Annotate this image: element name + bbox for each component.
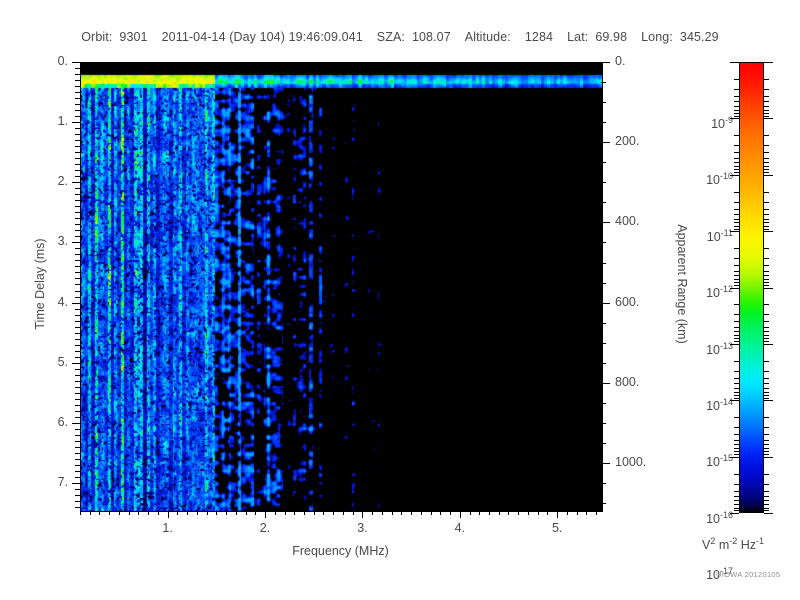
colorbar-tick-minor (734, 338, 739, 339)
colorbar-tick-major (764, 175, 773, 176)
y-tick-major-right (601, 62, 610, 63)
colorbar-tick-minor (764, 378, 769, 379)
y-tick-major-right (601, 383, 610, 384)
y-tick-label-right: 0. (615, 54, 625, 68)
colorbar-tick-minor (734, 417, 739, 418)
x-tick-minor (470, 510, 471, 515)
y-tick-minor-right (601, 162, 606, 163)
colorbar-tick-major (764, 288, 773, 289)
colorbar-tick-minor (734, 454, 739, 455)
colorbar-tick-minor (764, 275, 769, 276)
x-tick-minor (216, 510, 217, 515)
x-tick-label: 1. (158, 521, 178, 535)
y-axis-left-title: Time Delay (ms) (33, 229, 47, 339)
y-tick-minor-left (75, 315, 80, 316)
y-tick-minor-right (601, 122, 606, 123)
y-tick-label-left: 7. (32, 475, 68, 489)
y-tick-label-left: 2. (32, 174, 68, 188)
y-tick-major-right (601, 463, 610, 464)
y-tick-minor-left (75, 375, 80, 376)
x-tick-minor (285, 510, 286, 515)
y-tick-minor-left (75, 465, 80, 466)
altitude-value: 1284 (525, 30, 553, 44)
y-tick-minor-right (601, 242, 606, 243)
y-tick-major-left (72, 62, 80, 63)
colorbar-tick-minor (764, 222, 769, 223)
colorbar-tick-major (730, 288, 739, 289)
colorbar-tick-label: 10-12 (688, 284, 733, 300)
y-tick-minor-right (601, 323, 606, 324)
colorbar-tick-minor (764, 285, 769, 286)
y-tick-minor-left (75, 188, 80, 189)
sza-label: SZA: (377, 30, 405, 44)
colorbar-tick-label: 10-15 (688, 453, 733, 469)
x-tick-minor (372, 510, 373, 515)
y-tick-minor-left (75, 507, 80, 508)
x-tick-minor (518, 510, 519, 515)
colorbar-tick-minor (764, 444, 769, 445)
colorbar-tick-minor (734, 135, 739, 136)
colorbar-tick-minor (764, 451, 769, 452)
colorbar-tick-minor (734, 219, 739, 220)
colorbar-tick-minor (764, 219, 769, 220)
colorbar-tick-major (730, 231, 739, 232)
colorbar-tick-minor (764, 327, 769, 328)
colorbar-tick-minor (734, 172, 739, 173)
y-tick-minor-left (75, 74, 80, 75)
x-tick-minor (119, 510, 120, 515)
colorbar-tick-minor (734, 275, 739, 276)
x-tick-minor (90, 510, 91, 515)
colorbar-tick-minor (734, 248, 739, 249)
y-tick-minor-right (601, 363, 606, 364)
x-tick-minor (577, 510, 578, 515)
y-tick-minor-left (75, 278, 80, 279)
figure-header: Orbit:93012011-04-14 (Day 104) 19:46:09.… (0, 30, 800, 44)
observation-datetime: 2011-04-14 (Day 104) 19:46:09.041 (162, 30, 363, 44)
colorbar-tick-minor (764, 79, 769, 80)
colorbar-tick-minor (764, 113, 769, 114)
colorbar-tick-minor (734, 510, 739, 511)
y-tick-minor-right (601, 102, 606, 103)
y-tick-minor-left (75, 321, 80, 322)
y-tick-minor-left (75, 339, 80, 340)
colorbar-tick-minor (734, 314, 739, 315)
colorbar-tick-minor (764, 116, 769, 117)
y-tick-major-left (72, 363, 80, 364)
x-tick-label: 3. (352, 521, 372, 535)
colorbar-tick-minor (764, 169, 769, 170)
y-tick-minor-left (75, 170, 80, 171)
y-tick-minor-left (75, 110, 80, 111)
colorbar-tick-minor (764, 392, 769, 393)
y-tick-label-right: 400. (615, 214, 639, 228)
y-tick-label-right: 1000. (615, 455, 646, 469)
x-tick-minor (80, 510, 81, 515)
colorbar-tick-minor (734, 448, 739, 449)
colorbar-tick-labels: 10-910-1010-1110-1210-1310-1410-1510-161… (688, 62, 733, 513)
colorbar-tick-minor (734, 158, 739, 159)
y-tick-minor-left (75, 351, 80, 352)
colorbar-tick-major (730, 62, 739, 63)
colorbar-tick-minor (734, 378, 739, 379)
spectrogram-plot-area (80, 62, 603, 512)
colorbar-tick-minor (764, 496, 769, 497)
colorbar-tick-minor (734, 496, 739, 497)
y-tick-minor-left (75, 345, 80, 346)
colorbar-tick-minor (764, 202, 769, 203)
colorbar-tick-minor (764, 335, 769, 336)
y-tick-minor-left (75, 272, 80, 273)
x-tick-minor (382, 510, 383, 515)
y-tick-minor-left (75, 266, 80, 267)
y-tick-minor-left (75, 369, 80, 370)
y-tick-minor-left (75, 284, 80, 285)
colorbar-tick-minor (734, 192, 739, 193)
colorbar-tick-minor (734, 222, 739, 223)
colorbar-tick-minor (734, 96, 739, 97)
x-tick-label: 4. (450, 521, 470, 535)
colorbar-tick-minor (764, 101, 769, 102)
colorbar-tick-major (730, 513, 739, 514)
colorbar-tick-minor (764, 135, 769, 136)
y-tick-minor-left (75, 176, 80, 177)
y-tick-minor-left (75, 254, 80, 255)
colorbar-tick-minor (734, 116, 739, 117)
x-tick-major (460, 510, 461, 518)
colorbar-tick-minor (734, 304, 739, 305)
y-tick-major-left (72, 182, 80, 183)
colorbar-tick-minor (734, 440, 739, 441)
colorbar-gradient (739, 62, 764, 513)
x-tick-major (265, 510, 266, 518)
y-tick-minor-right (601, 283, 606, 284)
y-tick-minor-left (75, 134, 80, 135)
x-tick-minor (401, 510, 402, 515)
x-tick-minor (479, 510, 480, 515)
colorbar-tick-minor (734, 335, 739, 336)
y-tick-major-right (601, 222, 610, 223)
y-tick-minor-left (75, 230, 80, 231)
y-axis-right-title: Apparent Range (km) (675, 214, 689, 354)
colorbar-tick-minor (764, 248, 769, 249)
y-tick-major-right (601, 142, 610, 143)
colorbar-tick-major (764, 400, 773, 401)
colorbar-tick-minor (764, 361, 769, 362)
colorbar-tick-minor (734, 89, 739, 90)
y-tick-minor-left (75, 429, 80, 430)
y-tick-minor-left (75, 441, 80, 442)
colorbar-tick-minor (734, 341, 739, 342)
y-tick-label-left: 1. (32, 114, 68, 128)
colorbar-tick-minor (734, 361, 739, 362)
colorbar-tick-minor (734, 162, 739, 163)
colorbar-tick-minor (734, 285, 739, 286)
x-tick-minor (586, 510, 587, 515)
colorbar-tick-minor (734, 371, 739, 372)
y-tick-minor-left (75, 260, 80, 261)
x-tick-minor (499, 510, 500, 515)
colorbar-tick-minor (764, 500, 769, 501)
y-tick-minor-left (75, 248, 80, 249)
y-tick-major-left (72, 303, 80, 304)
y-tick-minor-left (75, 68, 80, 69)
x-tick-minor (294, 510, 295, 515)
x-tick-minor (246, 510, 247, 515)
x-tick-major (168, 510, 169, 518)
colorbar-tick-major (730, 175, 739, 176)
colorbar-tick-minor (734, 398, 739, 399)
colorbar-tick-minor (764, 304, 769, 305)
colorbar-tick-minor (734, 279, 739, 280)
x-tick-label: 5. (547, 521, 567, 535)
colorbar-tick-minor (734, 229, 739, 230)
y-tick-minor-left (75, 140, 80, 141)
sza-value: 108.07 (412, 30, 451, 44)
orbit-label: Orbit: (81, 30, 112, 44)
y-tick-minor-left (75, 477, 80, 478)
x-tick-minor (431, 510, 432, 515)
colorbar-tick-minor (734, 271, 739, 272)
y-tick-minor-left (75, 200, 80, 201)
x-tick-minor (567, 510, 568, 515)
y-tick-minor-left (75, 164, 80, 165)
y-tick-minor-left (75, 86, 80, 87)
colorbar-tick-minor (734, 79, 739, 80)
x-tick-minor (596, 510, 597, 515)
colorbar-tick-major (730, 344, 739, 345)
y-tick-minor-left (75, 128, 80, 129)
x-tick-minor (275, 510, 276, 515)
colorbar-tick-minor (764, 491, 769, 492)
colorbar-tick-minor (764, 440, 769, 441)
x-tick-minor (255, 510, 256, 515)
colorbar-units-label: V2 m-2 Hz-1 (702, 536, 764, 552)
y-tick-minor-right (601, 503, 606, 504)
colorbar-tick-minor (764, 96, 769, 97)
colorbar-tick-minor (734, 444, 739, 445)
colorbar-tick-minor (734, 209, 739, 210)
colorbar-tick-minor (764, 448, 769, 449)
colorbar-tick-minor (764, 417, 769, 418)
y-tick-minor-right (601, 483, 606, 484)
colorbar-tick-minor (734, 101, 739, 102)
x-tick-minor (197, 510, 198, 515)
x-tick-major (557, 510, 558, 518)
x-tick-minor (129, 510, 130, 515)
colorbar-tick-minor (734, 327, 739, 328)
colorbar-tick-minor (764, 279, 769, 280)
colorbar-tick-minor (764, 214, 769, 215)
colorbar-tick-minor (764, 229, 769, 230)
colorbar-tick-minor (764, 172, 769, 173)
colorbar-tick-minor (764, 321, 769, 322)
credit-text: UIOWA 20120105 (716, 570, 780, 579)
colorbar-tick-minor (764, 508, 769, 509)
colorbar-tick-minor (734, 282, 739, 283)
colorbar-tick-major (730, 400, 739, 401)
colorbar-tick-minor (764, 371, 769, 372)
y-tick-minor-left (75, 146, 80, 147)
x-tick-minor (333, 510, 334, 515)
y-tick-minor-left (75, 206, 80, 207)
colorbar-tick-minor (764, 106, 769, 107)
long-value: 345.29 (680, 30, 719, 44)
y-tick-minor-left (75, 152, 80, 153)
y-tick-label-right: 800. (615, 375, 639, 389)
y-tick-minor-left (75, 194, 80, 195)
colorbar-tick-minor (734, 169, 739, 170)
x-tick-minor (411, 510, 412, 515)
colorbar-tick-minor (734, 166, 739, 167)
y-tick-minor-left (75, 236, 80, 237)
y-tick-minor-right (601, 263, 606, 264)
y-tick-minor-left (75, 357, 80, 358)
x-tick-minor (547, 510, 548, 515)
y-tick-minor-left (75, 291, 80, 292)
colorbar-tick-minor (734, 214, 739, 215)
colorbar-tick-minor (764, 395, 769, 396)
x-tick-minor (353, 510, 354, 515)
colorbar-tick-minor (734, 395, 739, 396)
y-tick-minor-left (75, 387, 80, 388)
colorbar-tick-minor (764, 166, 769, 167)
y-tick-minor-left (75, 459, 80, 460)
x-tick-minor (109, 510, 110, 515)
y-tick-major-left (72, 483, 80, 484)
y-tick-minor-left (75, 327, 80, 328)
colorbar-tick-minor (734, 392, 739, 393)
x-tick-minor (304, 510, 305, 515)
y-tick-minor-left (75, 297, 80, 298)
colorbar-tick-minor (764, 398, 769, 399)
colorbar-tick-minor (734, 106, 739, 107)
y-tick-minor-left (75, 453, 80, 454)
x-tick-minor (99, 510, 100, 515)
colorbar-tick-minor (764, 162, 769, 163)
ionogram-figure: Orbit:93012011-04-14 (Day 104) 19:46:09.… (0, 0, 800, 600)
x-tick-minor (392, 510, 393, 515)
y-tick-label-right: 200. (615, 134, 639, 148)
x-tick-minor (138, 510, 139, 515)
y-tick-minor-left (75, 104, 80, 105)
colorbar-tick-minor (734, 226, 739, 227)
x-tick-minor (450, 510, 451, 515)
colorbar-tick-minor (734, 484, 739, 485)
y-tick-minor-left (75, 411, 80, 412)
colorbar-tick-minor (764, 271, 769, 272)
y-tick-major-left (72, 242, 80, 243)
y-tick-label-right: 600. (615, 295, 639, 309)
y-tick-minor-left (75, 489, 80, 490)
colorbar-tick-minor (734, 427, 739, 428)
colorbar-tick-minor (764, 209, 769, 210)
orbit-value: 9301 (119, 30, 147, 44)
lat-label: Lat: (567, 30, 588, 44)
long-label: Long: (641, 30, 673, 44)
x-tick-minor (314, 510, 315, 515)
colorbar-tick-minor (734, 388, 739, 389)
colorbar-tick-label: 10-10 (688, 171, 733, 187)
colorbar-tick-minor (764, 226, 769, 227)
x-tick-minor (538, 510, 539, 515)
x-tick-minor (187, 510, 188, 515)
colorbar-tick-label: 10-16 (688, 510, 733, 526)
lat-value: 69.98 (595, 30, 627, 44)
colorbar-tick-minor (764, 427, 769, 428)
colorbar-tick-minor (734, 258, 739, 259)
colorbar-tick-label: 10-11 (688, 228, 733, 244)
y-tick-minor-right (601, 403, 606, 404)
y-tick-minor-left (75, 501, 80, 502)
colorbar-tick-label: 10-13 (688, 341, 733, 357)
y-tick-minor-left (75, 381, 80, 382)
x-tick-minor (508, 510, 509, 515)
colorbar-tick-minor (764, 383, 769, 384)
y-tick-minor-left (75, 447, 80, 448)
y-tick-minor-left (75, 309, 80, 310)
colorbar-tick-label: 10-14 (688, 397, 733, 413)
colorbar-tick-minor (764, 388, 769, 389)
colorbar-tick-minor (734, 504, 739, 505)
colorbar-tick-major (730, 118, 739, 119)
altitude-label: Altitude: (465, 30, 511, 44)
y-tick-minor-left (75, 471, 80, 472)
y-tick-minor-left (75, 218, 80, 219)
x-tick-minor (343, 510, 344, 515)
y-tick-minor-left (75, 92, 80, 93)
x-axis-title: Frequency (MHz) (80, 544, 601, 558)
colorbar-tick-minor (734, 110, 739, 111)
y-tick-minor-left (75, 399, 80, 400)
colorbar-tick-minor (734, 113, 739, 114)
x-tick-minor (528, 510, 529, 515)
colorbar-tick-minor (764, 454, 769, 455)
y-tick-minor-right (601, 423, 606, 424)
x-tick-minor (236, 510, 237, 515)
y-tick-minor-left (75, 98, 80, 99)
colorbar-tick-minor (764, 434, 769, 435)
colorbar-tick-major (730, 457, 739, 458)
colorbar-tick-minor (734, 508, 739, 509)
y-tick-minor-left (75, 495, 80, 496)
y-tick-major-right (601, 303, 610, 304)
colorbar-tick-minor (764, 258, 769, 259)
x-tick-minor (489, 510, 490, 515)
colorbar-tick-major (764, 231, 773, 232)
colorbar-tick-minor (764, 89, 769, 90)
colorbar-tick-minor (734, 202, 739, 203)
colorbar-tick-minor (764, 504, 769, 505)
y-tick-minor-right (601, 343, 606, 344)
x-tick-minor (148, 510, 149, 515)
y-tick-minor-right (601, 182, 606, 183)
x-tick-minor (323, 510, 324, 515)
colorbar-tick-minor (734, 321, 739, 322)
colorbar-tick-minor (764, 192, 769, 193)
x-tick-minor (440, 510, 441, 515)
colorbar-tick-major (764, 344, 773, 345)
y-tick-minor-left (75, 116, 80, 117)
colorbar-tick-minor (764, 158, 769, 159)
x-tick-minor (158, 510, 159, 515)
colorbar (739, 62, 764, 513)
colorbar-tick-minor (734, 145, 739, 146)
x-tick-minor (207, 510, 208, 515)
colorbar-tick-minor (734, 474, 739, 475)
y-tick-minor-right (601, 443, 606, 444)
colorbar-tick-minor (734, 383, 739, 384)
